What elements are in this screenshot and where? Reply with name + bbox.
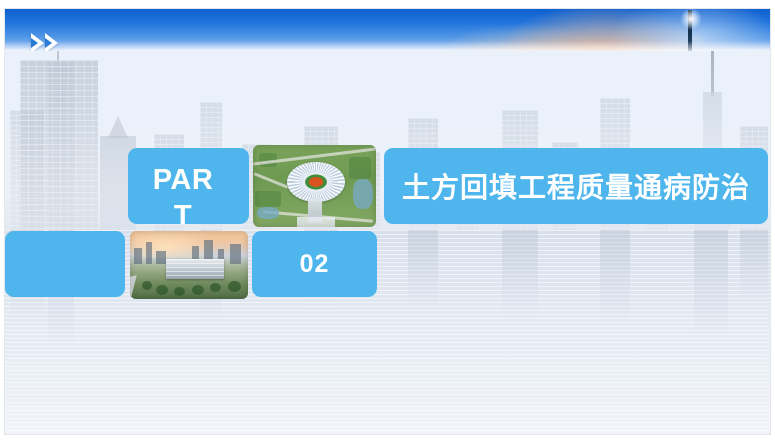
building-photo-card[interactable] [130, 231, 248, 299]
part-card[interactable]: PART [128, 148, 249, 224]
banner-haze [4, 41, 771, 51]
part-label: PART [152, 162, 214, 224]
section-number-card[interactable]: 02 [252, 231, 377, 297]
page-title: 土方回填工程质量通病防治 [384, 148, 768, 224]
top-banner [4, 8, 771, 51]
empty-accent-card[interactable] [5, 231, 125, 297]
stadium-photo-card[interactable] [253, 145, 376, 227]
presentation-slide: PART 土方回填工程质量通病防治 [0, 0, 775, 443]
double-chevron-right-icon [31, 33, 58, 51]
section-title-card[interactable]: 土方回填工程质量通病防治 [384, 148, 768, 224]
stadium-roof [287, 162, 345, 202]
section-number: 02 [252, 231, 377, 297]
banner-spire-glow [680, 8, 702, 30]
